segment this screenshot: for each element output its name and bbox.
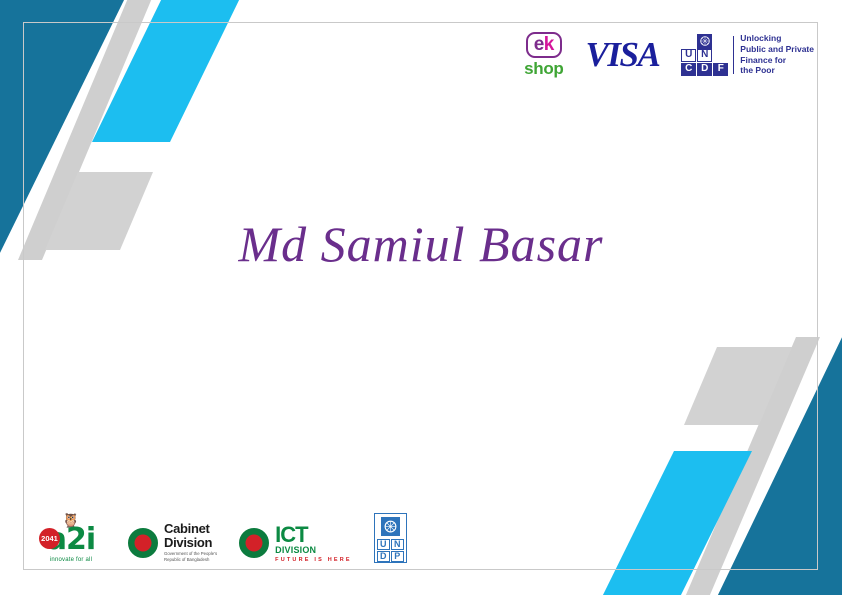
uncdf-logo: U N C D F Unlocking Public and Private F… xyxy=(681,33,814,77)
certificate-slide: ek shop VISA U N C D F xyxy=(0,0,842,595)
ekshop-letter-e: e xyxy=(534,34,544,55)
top-logo-row: ek shop VISA U N C D F xyxy=(524,32,814,77)
ict-division-text: ICT DIVISION FUTURE IS HERE xyxy=(275,524,352,564)
bangladesh-seal-icon xyxy=(128,528,158,558)
ict-division-logo: ICT DIVISION FUTURE IS HERE xyxy=(239,524,352,564)
uncdf-letter-grid: U N C D F xyxy=(681,49,728,76)
bangladesh-seal-icon-ict xyxy=(239,528,269,558)
uncdf-cell-1: N xyxy=(697,49,712,62)
uncdf-cell-0: U xyxy=(681,49,696,62)
undp-cell-0: U xyxy=(377,539,390,550)
bottom-logo-row: 🦉 a2i 2041 innovate for all Cabinet Divi… xyxy=(36,513,407,563)
cabinet-line-2: Division xyxy=(164,536,217,550)
cabinet-division-text: Cabinet Division Government of the Peopl… xyxy=(164,522,217,563)
uncdf-tagline-line-4: the Poor xyxy=(740,65,814,76)
cabinet-subtitle: Government of the People's Republic of B… xyxy=(164,551,217,563)
ekshop-letter-k: k xyxy=(544,34,554,55)
a2i-tagline: innovate for all xyxy=(36,557,106,563)
ict-wordmark: ICT xyxy=(275,524,352,546)
uncdf-mark-icon: U N C D F xyxy=(681,34,727,76)
undp-cell-2: D xyxy=(377,551,390,562)
ict-subtitle: DIVISION xyxy=(275,546,352,555)
un-emblem-icon xyxy=(697,34,712,49)
uncdf-cell-5: F xyxy=(713,63,728,76)
a2i-logo: 🦉 a2i 2041 innovate for all xyxy=(36,513,106,563)
a2i-wordmark: a2i 2041 xyxy=(36,525,106,555)
cabinet-division-logo: Cabinet Division Government of the Peopl… xyxy=(128,522,217,563)
ict-tagline: FUTURE IS HERE xyxy=(275,558,352,564)
ekshop-wordmark: shop xyxy=(524,60,563,77)
uncdf-tagline-line-1: Unlocking xyxy=(740,33,814,44)
uncdf-tagline-line-2: Public and Private xyxy=(740,44,814,55)
uncdf-divider xyxy=(733,36,734,74)
ekshop-logo: ek shop xyxy=(524,32,563,77)
uncdf-cell-4: D xyxy=(697,63,712,76)
ekshop-mark-icon: ek xyxy=(526,32,562,58)
uncdf-tagline: Unlocking Public and Private Finance for… xyxy=(740,33,814,77)
a2i-year-badge: 2041 xyxy=(39,528,60,549)
cabinet-subtitle-line-2: Republic of Bangladesh xyxy=(164,557,217,563)
recipient-name: Md Samiul Basar xyxy=(0,215,842,273)
undp-letter-grid: U N D P xyxy=(377,539,404,562)
undp-cell-1: N xyxy=(391,539,404,550)
uncdf-cell-2 xyxy=(713,49,728,62)
undp-logo: U N D P xyxy=(374,513,407,563)
uncdf-cell-3: C xyxy=(681,63,696,76)
un-emblem-icon-undp xyxy=(381,517,400,536)
undp-cell-3: P xyxy=(391,551,404,562)
uncdf-tagline-line-3: Finance for xyxy=(740,55,814,66)
visa-logo: VISA xyxy=(586,35,660,75)
cabinet-line-1: Cabinet xyxy=(164,522,217,536)
